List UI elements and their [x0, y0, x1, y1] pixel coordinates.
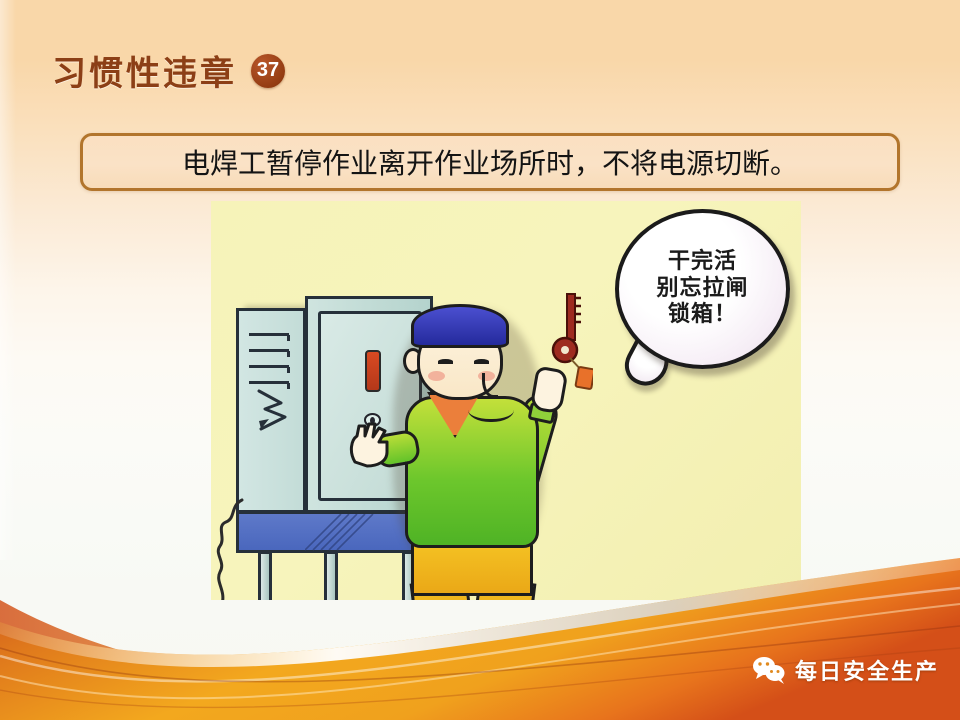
worker-hand-left — [349, 422, 389, 468]
page-title: 习惯性违章 — [52, 46, 237, 95]
speech-bubble-line-1: 干完活 — [668, 249, 737, 276]
lightning-bolt-icon — [255, 387, 289, 433]
key-icon — [537, 288, 593, 398]
wechat-icon — [752, 656, 786, 684]
speech-bubble: 干完活 别忘拉闸 锁箱！ — [615, 209, 790, 369]
cabinet-side-panel — [236, 308, 306, 513]
worker-eye-left — [438, 359, 453, 364]
worker-shirt — [405, 396, 539, 548]
violation-statement-text: 电焊工暂停作业离开作业场所时，不将电源切断。 — [182, 142, 798, 182]
speech-bubble-line-2: 别忘拉闸 — [656, 276, 748, 303]
violation-statement-box: 电焊工暂停作业离开作业场所时，不将电源切断。 — [80, 133, 900, 191]
title-number-badge: 37 — [251, 54, 285, 88]
speech-bubble-line-3: 锁箱！ — [668, 302, 737, 329]
slide-canvas: 习惯性违章 37 电焊工暂停作业离开作业场所时，不将电源切断。 — [0, 0, 960, 720]
cabinet-handle[interactable] — [365, 350, 381, 392]
worker-smile — [468, 397, 514, 422]
cabinet-vent-icon — [249, 333, 289, 336]
cabinet-vent-icon — [249, 381, 289, 384]
worker-cheek-left — [428, 371, 445, 381]
slide-title-row: 习惯性违章 37 — [52, 46, 285, 95]
cabinet-vent-icon — [249, 349, 289, 352]
watermark: 每日安全生产 — [752, 654, 939, 686]
decorative-wave — [0, 530, 960, 720]
cabinet-vent-icon — [249, 365, 289, 368]
worker-eye-right — [474, 359, 489, 364]
worker-nose — [482, 373, 498, 398]
watermark-text: 每日安全生产 — [795, 654, 939, 686]
worker-cap — [411, 304, 509, 348]
